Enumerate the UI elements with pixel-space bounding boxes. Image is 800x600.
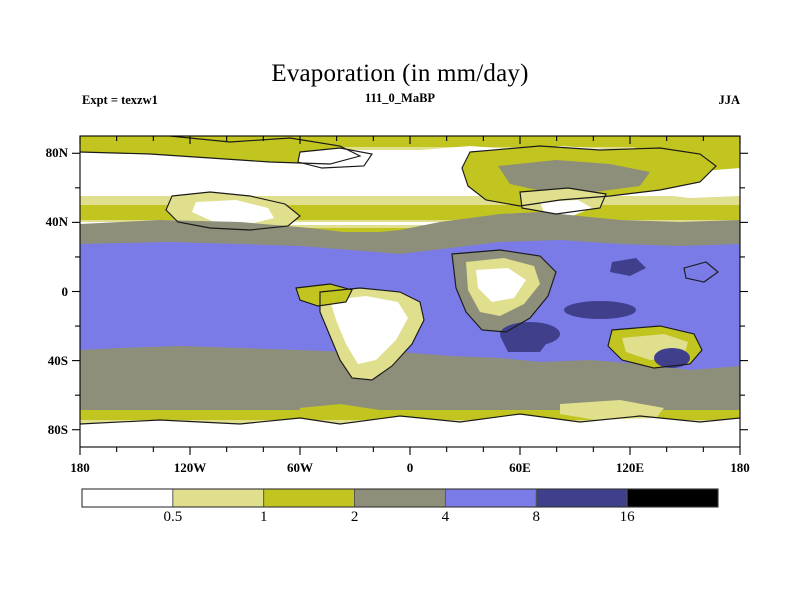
colorbar-tick-label: 1 [234, 509, 294, 526]
colorbar-band [355, 489, 446, 507]
colorbar-tick-label: 2 [325, 509, 385, 526]
colorbar [82, 489, 718, 507]
x-axis-label: 120W [155, 460, 225, 476]
y-axis-label: 80N [22, 145, 68, 161]
colorbar-band [82, 489, 173, 507]
colorbar-band [445, 489, 536, 507]
colorbar-band [536, 489, 627, 507]
y-axis-label: 80S [22, 422, 68, 438]
colorbar-band [173, 489, 264, 507]
contour-fill-layer [80, 136, 740, 447]
colorbar-tick-label: 16 [597, 509, 657, 526]
x-axis-label: 180 [705, 460, 775, 476]
y-axis-label: 0 [22, 284, 68, 300]
x-axis-label: 0 [375, 460, 445, 476]
x-axis-label: 60E [485, 460, 555, 476]
colorbar-tick-label: 0.5 [143, 509, 203, 526]
x-axis-label: 60W [265, 460, 335, 476]
colorbar-tick-label: 4 [415, 509, 475, 526]
x-axis-label: 120E [595, 460, 665, 476]
y-axis-label: 40N [22, 214, 68, 230]
colorbar-band [264, 489, 355, 507]
contour-band-8-16-indian [564, 301, 636, 319]
x-axis-label: 180 [45, 460, 115, 476]
colorbar-band [627, 489, 718, 507]
y-axis-label: 40S [22, 353, 68, 369]
colorbar-tick-label: 8 [506, 509, 566, 526]
evaporation-map [0, 0, 800, 600]
